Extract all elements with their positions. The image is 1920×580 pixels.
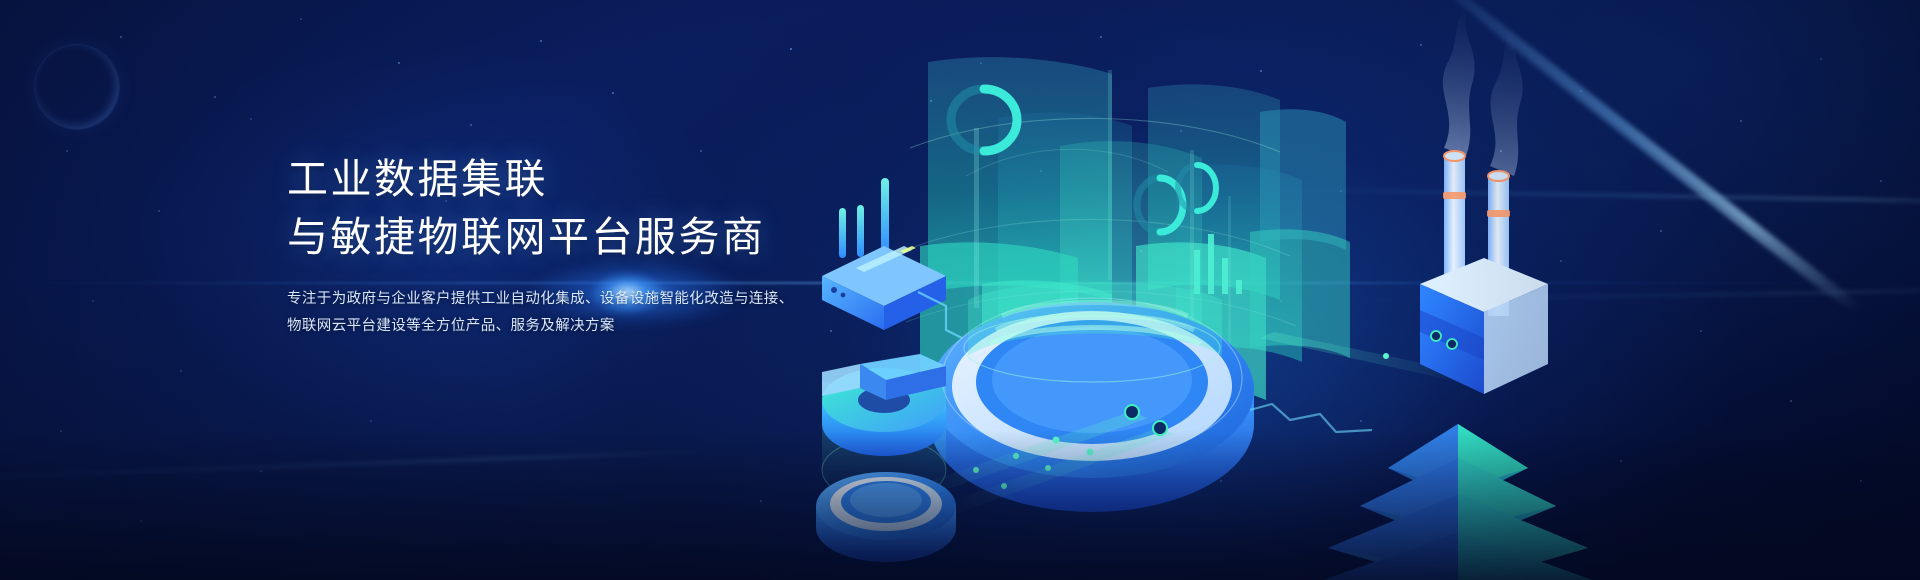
light-streak-icon — [1414, 0, 1861, 313]
donut-ring-chart-small-b — [1178, 165, 1216, 211]
subheadline-line-1: 专注于为政府与企业客户提供工业自动化集成、设备设施智能化改造与连接、 — [287, 286, 907, 313]
headline-line-1: 工业数据集联 — [287, 150, 907, 208]
light-streak-icon — [1467, 10, 1848, 309]
light-streak-icon — [1280, 188, 1920, 204]
donut-ring-chart-small-a — [1137, 178, 1183, 232]
bottom-fade — [0, 430, 1920, 580]
pie-chart-cylinder — [822, 354, 946, 502]
central-disc-platform — [930, 282, 1254, 512]
light-streak-icon — [0, 450, 720, 484]
hero-subcopy: 专注于为政府与企业客户提供工业自动化集成、设备设施智能化改造与连接、 物联网云平… — [287, 286, 907, 340]
illustration-isometric-iot-scene — [760, 0, 1920, 580]
data-pyramid — [1296, 424, 1620, 580]
connector-cable — [918, 292, 1028, 400]
bar-chart-panel — [1194, 234, 1242, 294]
small-disc-platform — [816, 472, 956, 562]
headline-line-2: 与敏捷物联网平台服务商 — [287, 208, 907, 266]
data-beam — [910, 332, 1474, 514]
orb-planet-icon — [34, 44, 120, 130]
hero-copy: 工业数据集联 与敏捷物联网平台服务商 专注于为政府与企业客户提供工业自动化集成、… — [287, 150, 907, 340]
factory-smokestacks — [1420, 6, 1548, 394]
glass-data-towers — [900, 57, 1350, 418]
light-streak-icon — [1340, 288, 1920, 302]
connector-cable — [1250, 404, 1372, 432]
donut-ring-chart-large — [951, 89, 1017, 151]
subheadline-line-2: 物联网云平台建设等全方位产品、服务及解决方案 — [287, 313, 907, 340]
hero-banner: 工业数据集联 与敏捷物联网平台服务商 专注于为政府与企业客户提供工业自动化集成、… — [0, 0, 1920, 580]
